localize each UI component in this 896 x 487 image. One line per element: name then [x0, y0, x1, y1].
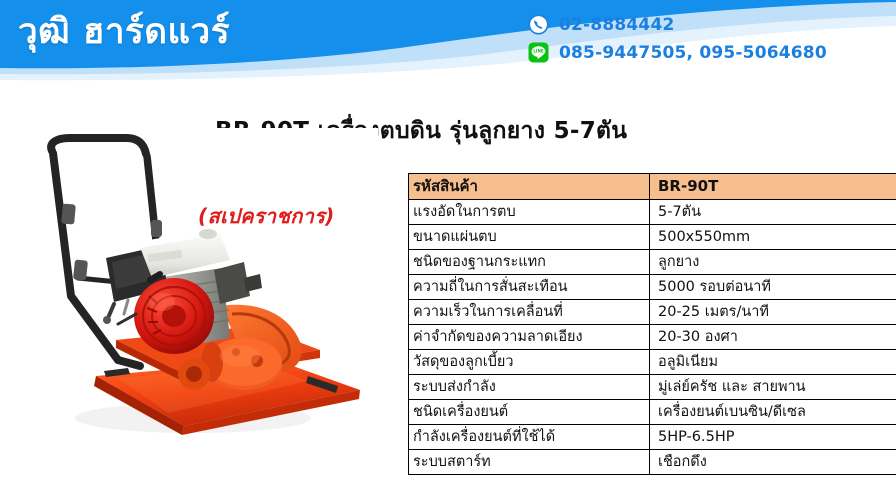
table-row: วัสดุของลูกเบี้ยว อลูมิเนียม: [409, 350, 896, 375]
spec-value: เครื่องยนต์เบนซิน/ดีเซล: [650, 400, 896, 425]
phone-number[interactable]: 02-8884442: [559, 15, 675, 35]
spec-value: ลูกยาง: [650, 250, 896, 275]
spec-header-key: รหัสสินค้า: [409, 174, 650, 200]
spec-value: 20-30 องศา: [650, 325, 896, 350]
spec-key: ชนิดของฐานกระแทก: [409, 250, 650, 275]
table-row: กำลังเครื่องยนต์ที่ใช้ได้ 5HP-6.5HP: [409, 425, 896, 450]
table-row: ขนาดแผ่นตบ 500x550mm: [409, 225, 896, 250]
product-photo: [8, 128, 378, 448]
table-row: ความเร็วในการเคลื่อนที่ 20-25 เมตร/นาที: [409, 300, 896, 325]
spec-table-body: แรงอัดในการตบ 5-7ตัน ขนาดแผ่นตบ 500x550m…: [409, 200, 896, 475]
table-row: แรงอัดในการตบ 5-7ตัน: [409, 200, 896, 225]
table-row: ชนิดเครื่องยนต์ เครื่องยนต์เบนซิน/ดีเซล: [409, 400, 896, 425]
phone-icon: [528, 14, 549, 35]
spec-value: 5HP-6.5HP: [650, 425, 896, 450]
spec-key: ค่าจำกัดของความลาดเอียง: [409, 325, 650, 350]
contact-block: 02-8884442 LINE 085-9447505, 095-5064680: [528, 12, 888, 68]
spec-key: ขนาดแผ่นตบ: [409, 225, 650, 250]
spec-key: กำลังเครื่องยนต์ที่ใช้ได้: [409, 425, 650, 450]
spec-value: เชือกดึง: [650, 450, 896, 475]
contact-row-line: LINE 085-9447505, 095-5064680: [528, 40, 888, 65]
government-spec-stamp: (สเปคราชการ): [198, 200, 335, 232]
spec-value: 20-25 เมตร/นาที: [650, 300, 896, 325]
spec-key: วัสดุของลูกเบี้ยว: [409, 350, 650, 375]
spec-table-header-row: รหัสสินค้า BR-90T: [409, 174, 896, 200]
contact-row-phone: 02-8884442: [528, 12, 888, 37]
spec-key: ระบบส่งกำลัง: [409, 375, 650, 400]
company-logo-text: วุฒิ ฮาร์ดแวร์: [18, 9, 230, 55]
spec-value: 5000 รอบต่อนาที: [650, 275, 896, 300]
spec-table-head: รหัสสินค้า BR-90T: [409, 174, 896, 200]
spec-value: อลูมิเนียม: [650, 350, 896, 375]
header-banner: วุฒิ ฮาร์ดแวร์ 02-8884442 LINE 085-94475…: [0, 0, 896, 92]
spec-key: ระบบสตาร์ท: [409, 450, 650, 475]
spec-key: ชนิดเครื่องยนต์: [409, 400, 650, 425]
spec-value: 5-7ตัน: [650, 200, 896, 225]
spec-value: มู่เล่ย์ครัช และ สายพาน: [650, 375, 896, 400]
spec-key: แรงอัดในการตบ: [409, 200, 650, 225]
table-row: ระบบส่งกำลัง มู่เล่ย์ครัช และ สายพาน: [409, 375, 896, 400]
line-icon: LINE: [528, 42, 549, 63]
svg-text:LINE: LINE: [533, 49, 544, 54]
spec-key: ความเร็วในการเคลื่อนที่: [409, 300, 650, 325]
specification-table: รหัสสินค้า BR-90T แรงอัดในการตบ 5-7ตัน ข…: [408, 173, 896, 475]
table-row: ระบบสตาร์ท เชือกดึง: [409, 450, 896, 475]
table-row: ชนิดของฐานกระแทก ลูกยาง: [409, 250, 896, 275]
spec-value: 500x550mm: [650, 225, 896, 250]
table-row: ความถี่ในการสั่นสะเทือน 5000 รอบต่อนาที: [409, 275, 896, 300]
line-number[interactable]: 085-9447505, 095-5064680: [559, 43, 827, 63]
spec-key: ความถี่ในการสั่นสะเทือน: [409, 275, 650, 300]
table-row: ค่าจำกัดของความลาดเอียง 20-30 องศา: [409, 325, 896, 350]
plate-compactor-illustration: [8, 128, 378, 448]
spec-header-value: BR-90T: [650, 174, 896, 200]
